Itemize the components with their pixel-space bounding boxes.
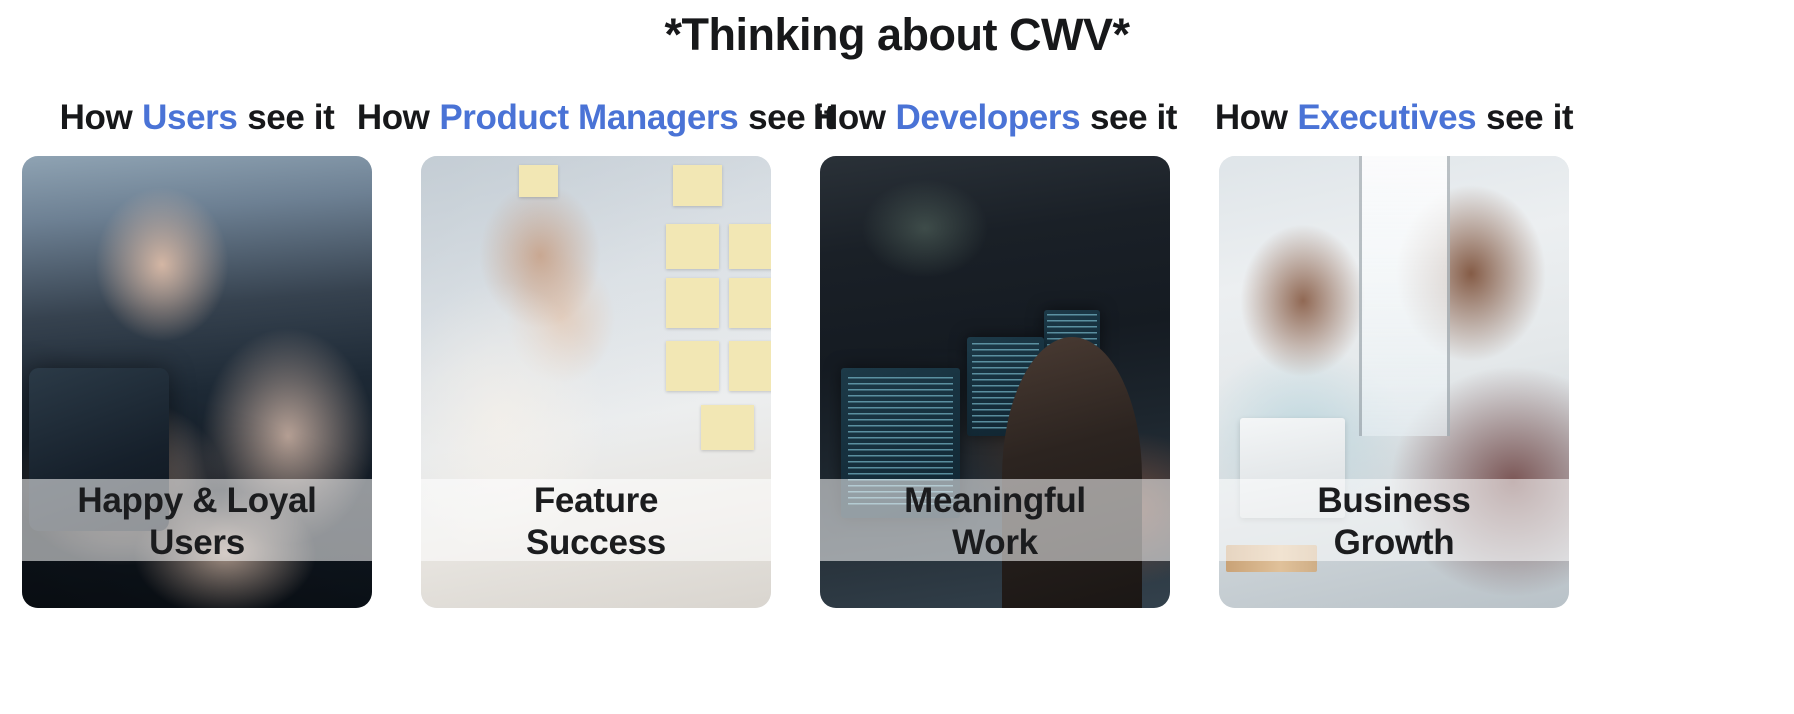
person-silhouette bbox=[1002, 337, 1142, 608]
heading-suffix: see it bbox=[1090, 98, 1177, 138]
caption-developers: Meaningful Work bbox=[820, 480, 1170, 564]
heading-suffix: see it bbox=[247, 98, 334, 138]
heading-accent-product-managers: Product Managers bbox=[439, 98, 738, 138]
column-product-managers: How Product Managers see it bbox=[421, 92, 771, 608]
heading-prefix: How bbox=[357, 98, 430, 138]
heading-suffix: see it bbox=[1486, 98, 1573, 138]
caption-product-managers: Feature Success bbox=[421, 480, 771, 564]
column-row: How Users see it Happy & Loyal Users How… bbox=[0, 92, 1794, 608]
page-title: *Thinking about CWV* bbox=[0, 8, 1794, 62]
heading-accent-users: Users bbox=[142, 98, 237, 138]
column-executives: How Executives see it Business Growth bbox=[1219, 92, 1569, 608]
sticky-note bbox=[729, 224, 771, 269]
sticky-note bbox=[666, 278, 719, 328]
heading-accent-developers: Developers bbox=[895, 98, 1080, 138]
card-product-managers[interactable]: Feature Success bbox=[421, 156, 771, 608]
column-heading-product-managers: How Product Managers see it bbox=[357, 92, 835, 144]
column-heading-users: How Users see it bbox=[60, 92, 335, 144]
sticky-note bbox=[666, 341, 719, 391]
sticky-note bbox=[729, 341, 771, 391]
slide-canvas: *Thinking about CWV* How Users see it Ha… bbox=[0, 0, 1794, 714]
window-pane bbox=[1359, 156, 1450, 436]
card-developers[interactable]: Meaningful Work bbox=[820, 156, 1170, 608]
sticky-note bbox=[673, 165, 722, 206]
card-executives[interactable]: Business Growth bbox=[1219, 156, 1569, 608]
column-users: How Users see it Happy & Loyal Users bbox=[22, 92, 372, 608]
card-users[interactable]: Happy & Loyal Users bbox=[22, 156, 372, 608]
column-heading-executives: How Executives see it bbox=[1215, 92, 1573, 144]
sticky-note bbox=[519, 165, 558, 197]
sticky-note bbox=[701, 405, 754, 450]
caption-executives: Business Growth bbox=[1219, 480, 1569, 564]
heading-prefix: How bbox=[60, 98, 133, 138]
sticky-note bbox=[729, 278, 771, 328]
column-developers: How Developers see it bbox=[820, 92, 1170, 608]
heading-accent-executives: Executives bbox=[1297, 98, 1476, 138]
column-heading-developers: How Developers see it bbox=[813, 92, 1177, 144]
heading-prefix: How bbox=[1215, 98, 1288, 138]
sticky-note bbox=[666, 224, 719, 269]
caption-users: Happy & Loyal Users bbox=[22, 480, 372, 564]
heading-prefix: How bbox=[813, 98, 886, 138]
